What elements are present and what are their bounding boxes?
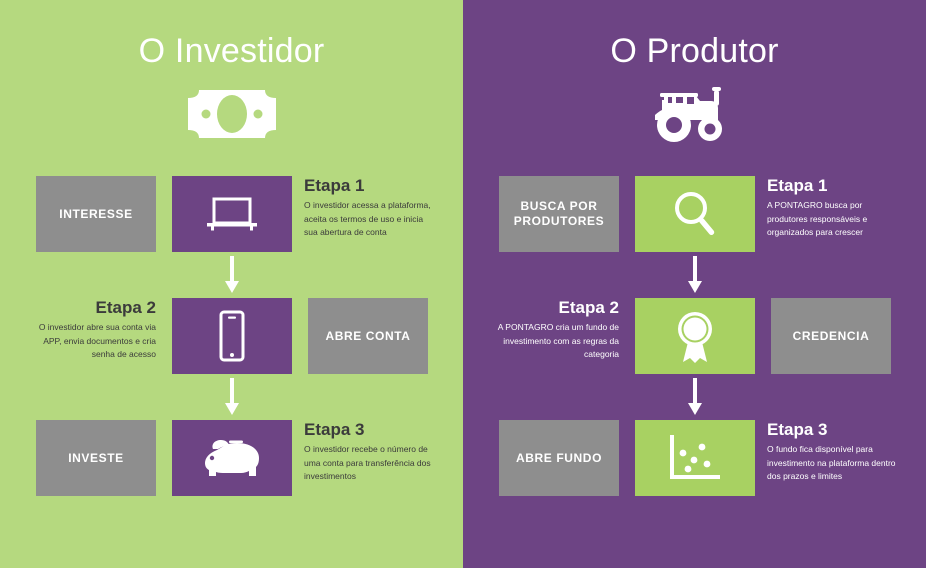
step-text-3-left: Etapa 3 O investidor recebe o número de … (304, 420, 434, 484)
step-body: O investidor recebe o número de uma cont… (304, 443, 434, 484)
icon-box-scatter-chart[interactable] (635, 420, 755, 496)
step-body: O investidor abre sua conta via APP, env… (28, 321, 156, 362)
tag-box-investe[interactable]: INVESTE (36, 420, 156, 496)
step-text-2-left: Etapa 2 O investidor abre sua conta via … (28, 298, 156, 362)
step-title: Etapa 1 (767, 176, 897, 196)
step-body: O fundo fica disponível para investiment… (767, 443, 897, 484)
step-title: Etapa 1 (304, 176, 434, 196)
step-text-3-right: Etapa 3 O fundo fica disponível para inv… (767, 420, 897, 484)
smartphone-icon (217, 310, 247, 362)
step-title: Etapa 3 (304, 420, 434, 440)
arrow-down-icon (687, 256, 703, 294)
tag-box-abre-fundo[interactable]: ABRE FUNDO (499, 420, 619, 496)
step-title: Etapa 2 (28, 298, 156, 318)
tag-box-credencia[interactable]: CREDENCIA (771, 298, 891, 374)
page-title-investidor: O Investidor (0, 34, 463, 68)
tag-box-label: INVESTE (68, 451, 124, 466)
magnifier-icon (671, 189, 719, 239)
step-title: Etapa 3 (767, 420, 897, 440)
step-text-1-right: Etapa 1 A PONTAGRO busca por produtores … (767, 176, 897, 240)
icon-box-award-ribbon[interactable] (635, 298, 755, 374)
award-ribbon-icon (672, 308, 718, 364)
arrow-down-icon (224, 256, 240, 294)
arrow-down-icon (687, 378, 703, 416)
step-row-1-left: INTERESSE Etapa 1 O investidor acessa a … (0, 176, 463, 252)
step-row-2-left: Etapa 2 O investidor abre sua conta via … (0, 298, 463, 374)
tag-box-label: INTERESSE (59, 207, 132, 222)
piggy-bank-icon (203, 436, 261, 480)
icon-box-piggy-bank[interactable] (172, 420, 292, 496)
icon-box-laptop[interactable] (172, 176, 292, 252)
tractor-icon (463, 84, 926, 144)
tag-box-label: ABRE CONTA (325, 329, 410, 344)
step-row-1-right: BUSCA POR PRODUTORES Etapa 1 A PONTAGRO … (463, 176, 926, 252)
infographic-root: O Investidor INTERESSE (0, 0, 926, 568)
laptop-icon (204, 194, 260, 234)
step-title: Etapa 2 (491, 298, 619, 318)
page-title-produtor: O Produtor (463, 34, 926, 68)
tag-box-interesse[interactable]: INTERESSE (36, 176, 156, 252)
step-row-2-right: Etapa 2 A PONTAGRO cria um fundo de inve… (463, 298, 926, 374)
tag-box-label: CREDENCIA (793, 329, 870, 344)
arrow-down-icon (224, 378, 240, 416)
tag-box-label: BUSCA POR PRODUTORES (514, 199, 604, 229)
step-text-1-left: Etapa 1 O investidor acessa a plataforma… (304, 176, 434, 240)
icon-box-magnifier[interactable] (635, 176, 755, 252)
scatter-chart-icon (666, 433, 724, 483)
step-text-2-right: Etapa 2 A PONTAGRO cria um fundo de inve… (491, 298, 619, 362)
panel-produtor: O Produtor BUSCA POR PRODUTORES (463, 0, 926, 568)
step-row-3-left: INVESTE Etapa 3 O investidor recebe o nú… (0, 420, 463, 496)
step-body: A PONTAGRO cria um fundo de investimento… (491, 321, 619, 362)
step-body: O investidor acessa a plataforma, aceita… (304, 199, 434, 240)
money-bill-icon (0, 84, 463, 144)
tag-box-abre-conta[interactable]: ABRE CONTA (308, 298, 428, 374)
panel-investidor: O Investidor INTERESSE (0, 0, 463, 568)
tag-box-label: ABRE FUNDO (516, 451, 602, 466)
icon-box-smartphone[interactable] (172, 298, 292, 374)
step-body: A PONTAGRO busca por produtores responsá… (767, 199, 897, 240)
tag-box-busca-por-produtores[interactable]: BUSCA POR PRODUTORES (499, 176, 619, 252)
step-row-3-right: ABRE FUNDO Etapa 3 O fund (463, 420, 926, 496)
